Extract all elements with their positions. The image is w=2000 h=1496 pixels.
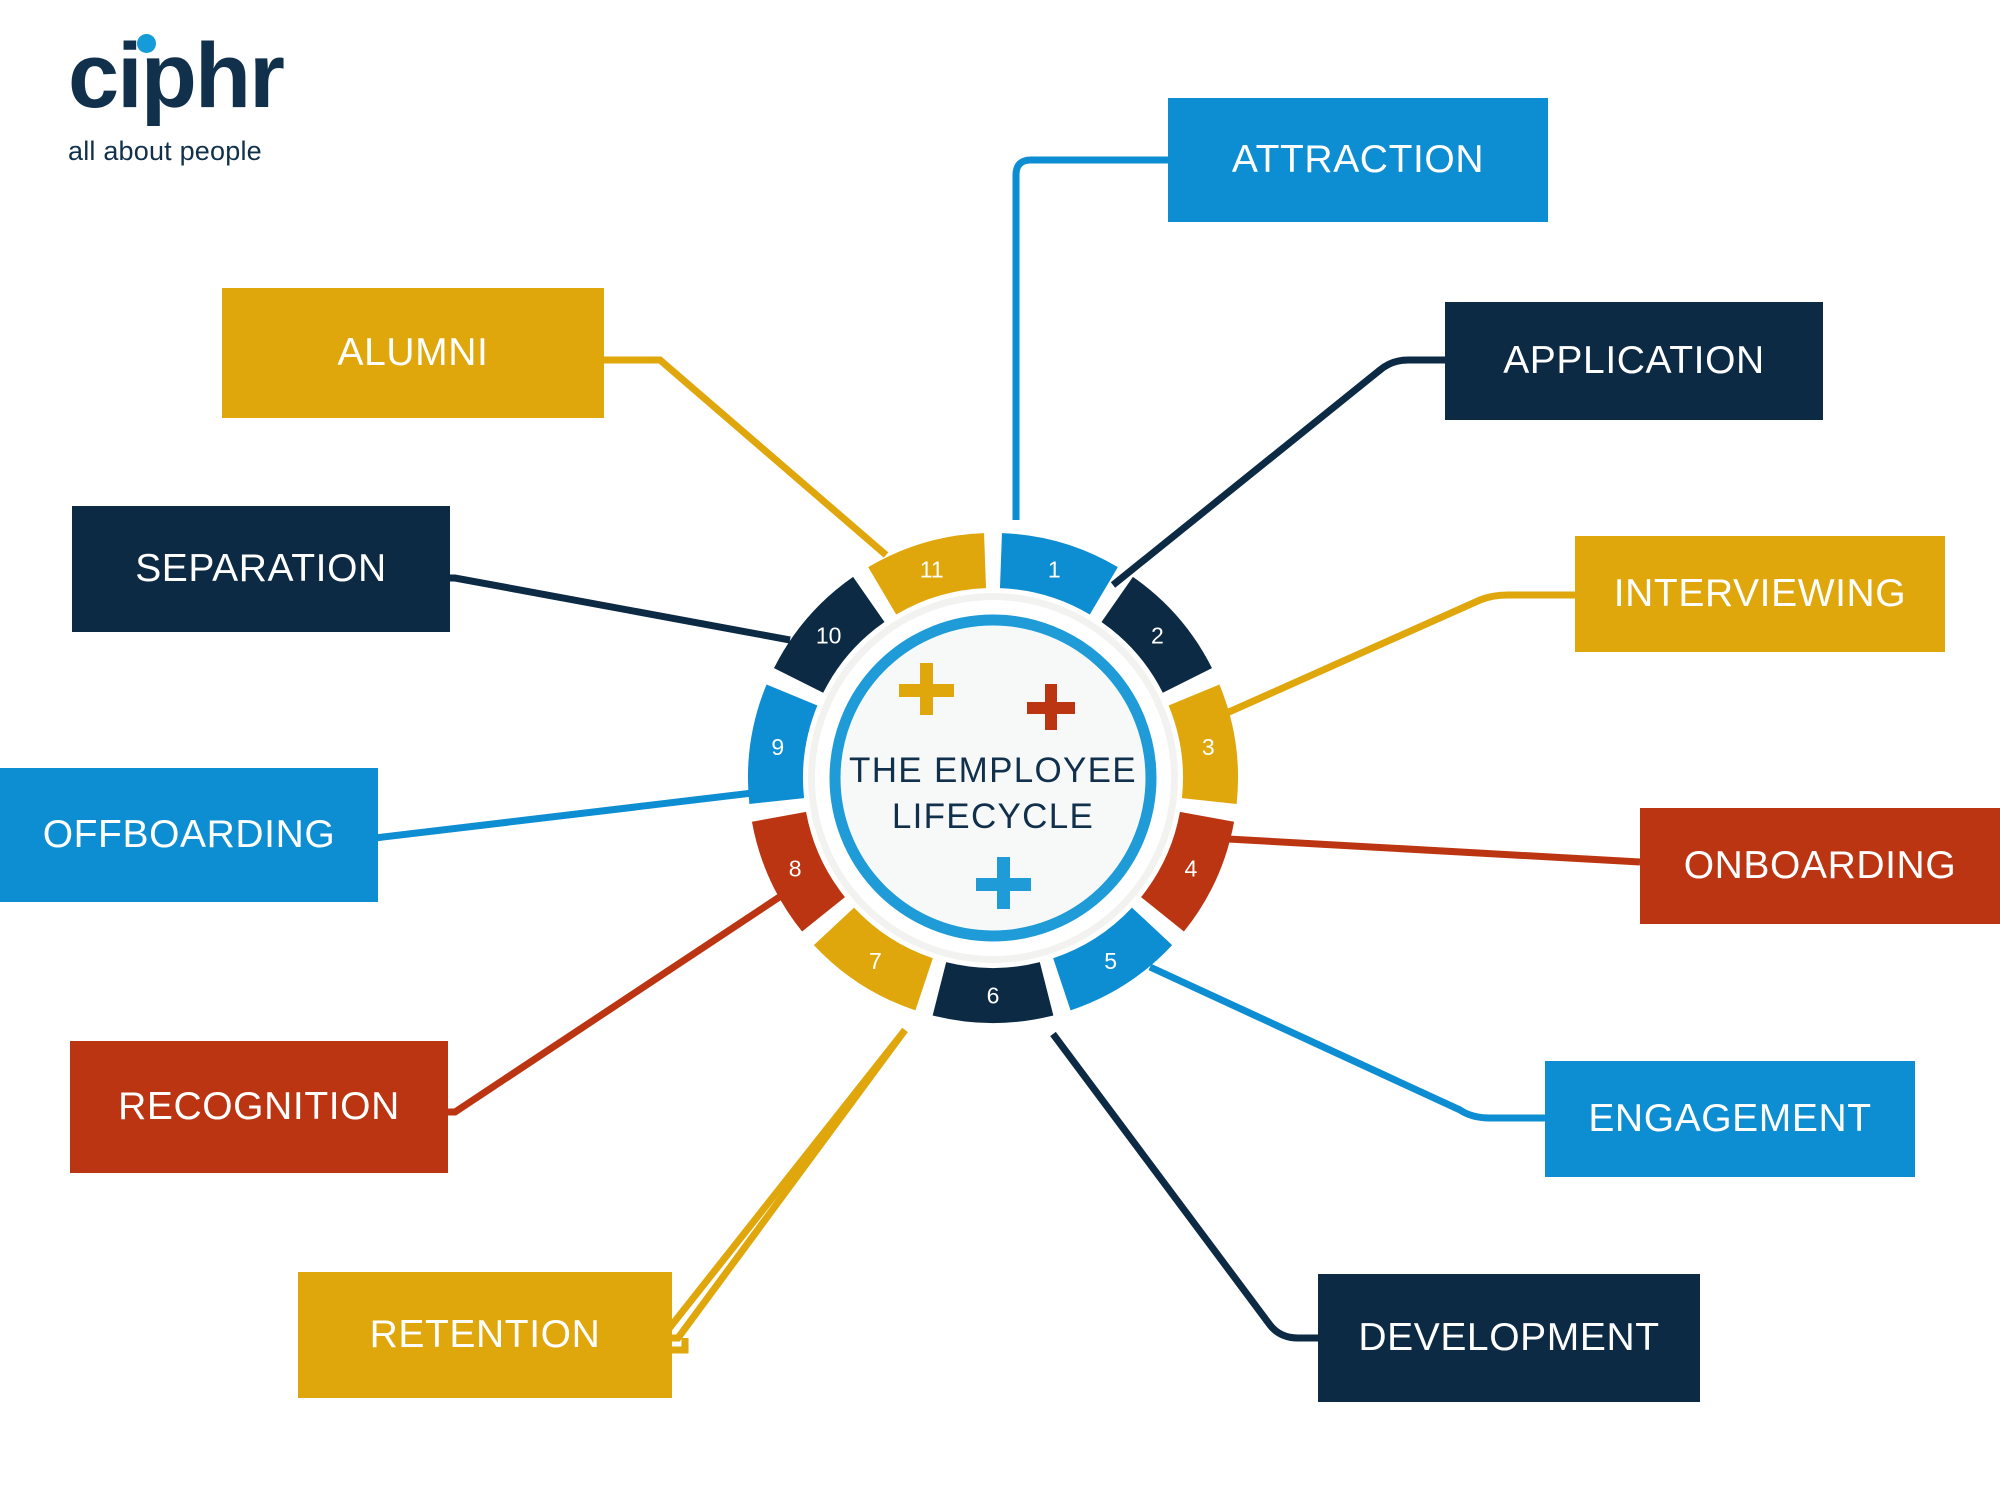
connector-retention-tail <box>672 1030 905 1338</box>
label-text-separation: SEPARATION <box>72 547 450 591</box>
ring-segment-number-2: 2 <box>1151 623 1164 649</box>
label-text-retention: RETENTION <box>298 1313 672 1357</box>
connector-alumni <box>600 360 886 555</box>
connector-retention <box>636 1030 905 1350</box>
connector-separation <box>440 578 790 640</box>
label-box-separation[interactable]: SEPARATION <box>72 506 450 632</box>
label-text-offboarding: OFFBOARDING <box>0 813 378 857</box>
label-text-development: DEVELOPMENT <box>1318 1316 1700 1360</box>
label-text-alumni: ALUMNI <box>222 331 604 375</box>
label-text-application: APPLICATION <box>1445 339 1823 383</box>
label-box-development[interactable]: DEVELOPMENT <box>1318 1274 1700 1402</box>
ring-segment-number-10: 10 <box>816 623 842 649</box>
label-box-interviewing[interactable]: INTERVIEWING <box>1575 536 1945 652</box>
label-box-offboarding[interactable]: OFFBOARDING <box>0 768 378 902</box>
connector-lines-extra <box>672 1030 905 1338</box>
label-text-recognition: RECOGNITION <box>70 1085 448 1129</box>
label-box-application[interactable]: APPLICATION <box>1445 302 1823 420</box>
label-box-recognition[interactable]: RECOGNITION <box>70 1041 448 1173</box>
ring-segment-number-7: 7 <box>869 948 882 974</box>
ring-segment-number-6: 6 <box>987 983 1000 1009</box>
label-text-onboarding: ONBOARDING <box>1640 844 2000 888</box>
connector-attraction <box>1016 160 1168 520</box>
label-box-engagement[interactable]: ENGAGEMENT <box>1545 1061 1915 1177</box>
label-text-engagement: ENGAGEMENT <box>1545 1097 1915 1141</box>
ring-segment-number-5: 5 <box>1104 948 1117 974</box>
connector-onboarding <box>1210 838 1640 862</box>
ring-segment-number-3: 3 <box>1202 734 1215 760</box>
label-text-attraction: ATTRACTION <box>1168 138 1548 182</box>
ring-segment-number-4: 4 <box>1184 855 1197 881</box>
center-title-line1: THE EMPLOYEE <box>849 751 1137 790</box>
connector-development <box>1053 1034 1318 1338</box>
connector-interviewing <box>1211 595 1575 720</box>
ring-segment-number-9: 9 <box>771 734 784 760</box>
connector-recognition <box>440 890 790 1112</box>
center-title-line2: LIFECYCLE <box>892 797 1094 836</box>
label-text-interviewing: INTERVIEWING <box>1575 572 1945 616</box>
ring-segment-number-1: 1 <box>1048 556 1061 582</box>
label-box-onboarding[interactable]: ONBOARDING <box>1640 808 2000 924</box>
connector-offboarding <box>375 790 778 838</box>
connector-application <box>1113 360 1445 585</box>
ring-segment-number-11: 11 <box>920 556 944 582</box>
label-box-alumni[interactable]: ALUMNI <box>222 288 604 418</box>
label-box-attraction[interactable]: ATTRACTION <box>1168 98 1548 222</box>
ring-segment-number-8: 8 <box>789 855 802 881</box>
infographic-canvas: ciphr all about people <box>0 0 2000 1496</box>
connector-engagement <box>1150 967 1545 1118</box>
label-box-retention[interactable]: RETENTION <box>298 1272 672 1398</box>
